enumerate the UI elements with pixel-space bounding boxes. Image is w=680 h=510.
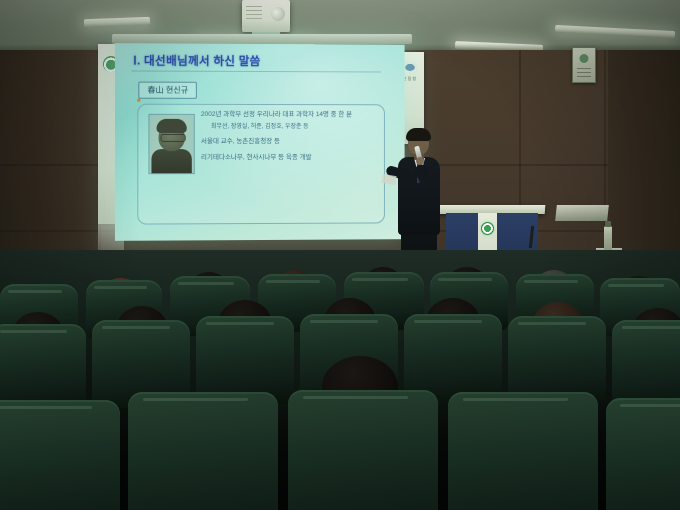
slide-bullet: 리기테다소나무, 현사시나무 등 육종 개발	[201, 154, 378, 163]
audience-seat	[448, 392, 598, 510]
sign-line	[577, 72, 591, 73]
audience-seat	[288, 390, 438, 510]
projector-lens-icon	[271, 7, 285, 21]
slide-bullet: 서울대 교수, 농촌진흥청장 등	[201, 138, 378, 147]
ceiling-projector	[242, 0, 290, 32]
slide-portrait	[148, 114, 194, 174]
audience-seat	[606, 398, 680, 510]
audience-layer	[0, 250, 680, 510]
projection-screen: Ⅰ. 대선배님께서 하신 말씀 春山 현신규 2002년 과학부 선정 우리나라…	[115, 43, 405, 241]
audience-seat	[0, 324, 86, 410]
glasses-icon	[161, 134, 186, 142]
portrait-hair	[157, 119, 187, 133]
side-desk	[555, 205, 609, 221]
slide-content-box: 2002년 과학부 선정 우리나라 대표 과학자 14명 중 한 분 최무선, …	[137, 104, 385, 225]
audience-seat	[196, 316, 294, 404]
wall-sign	[572, 47, 596, 83]
audience-seat	[508, 316, 606, 404]
portrait-body	[151, 149, 191, 173]
slide-bullet: 2002년 과학부 선정 우리나라 대표 과학자 14명 중 한 분	[201, 111, 378, 120]
slide-marker-dot	[137, 99, 140, 102]
speaker-hand	[416, 157, 424, 165]
bottle-cap	[605, 221, 611, 227]
projector-vent	[246, 6, 262, 22]
lecture-hall-photo: 산림청 Ⅰ. 대선배님께서 하신 말씀 春山 현신규 2002년 과학부 선정 …	[0, 0, 680, 510]
sign-line	[577, 76, 591, 77]
sign-line	[577, 68, 591, 69]
speaker-hair	[406, 128, 431, 141]
podium-emblem-icon	[481, 222, 494, 235]
audience-seat	[612, 320, 680, 408]
water-bottle	[604, 226, 612, 250]
slide-title: Ⅰ. 대선배님께서 하신 말씀	[133, 52, 260, 69]
audience-seat	[404, 314, 502, 402]
speaker-presenter	[392, 130, 448, 270]
audience-seat	[0, 400, 120, 510]
slide-bullet-list: 2002년 과학부 선정 우리나라 대표 과학자 14명 중 한 분 최무선, …	[201, 111, 378, 166]
emblem-icon	[580, 54, 589, 63]
slide-bullet: 최무선, 장영실, 허준, 김정호, 우장춘 등	[211, 123, 378, 131]
right-wall	[608, 50, 680, 280]
emblem-icon	[403, 62, 418, 71]
audience-seat	[128, 392, 278, 510]
slide-name-chip: 春山 현신규	[138, 82, 197, 99]
